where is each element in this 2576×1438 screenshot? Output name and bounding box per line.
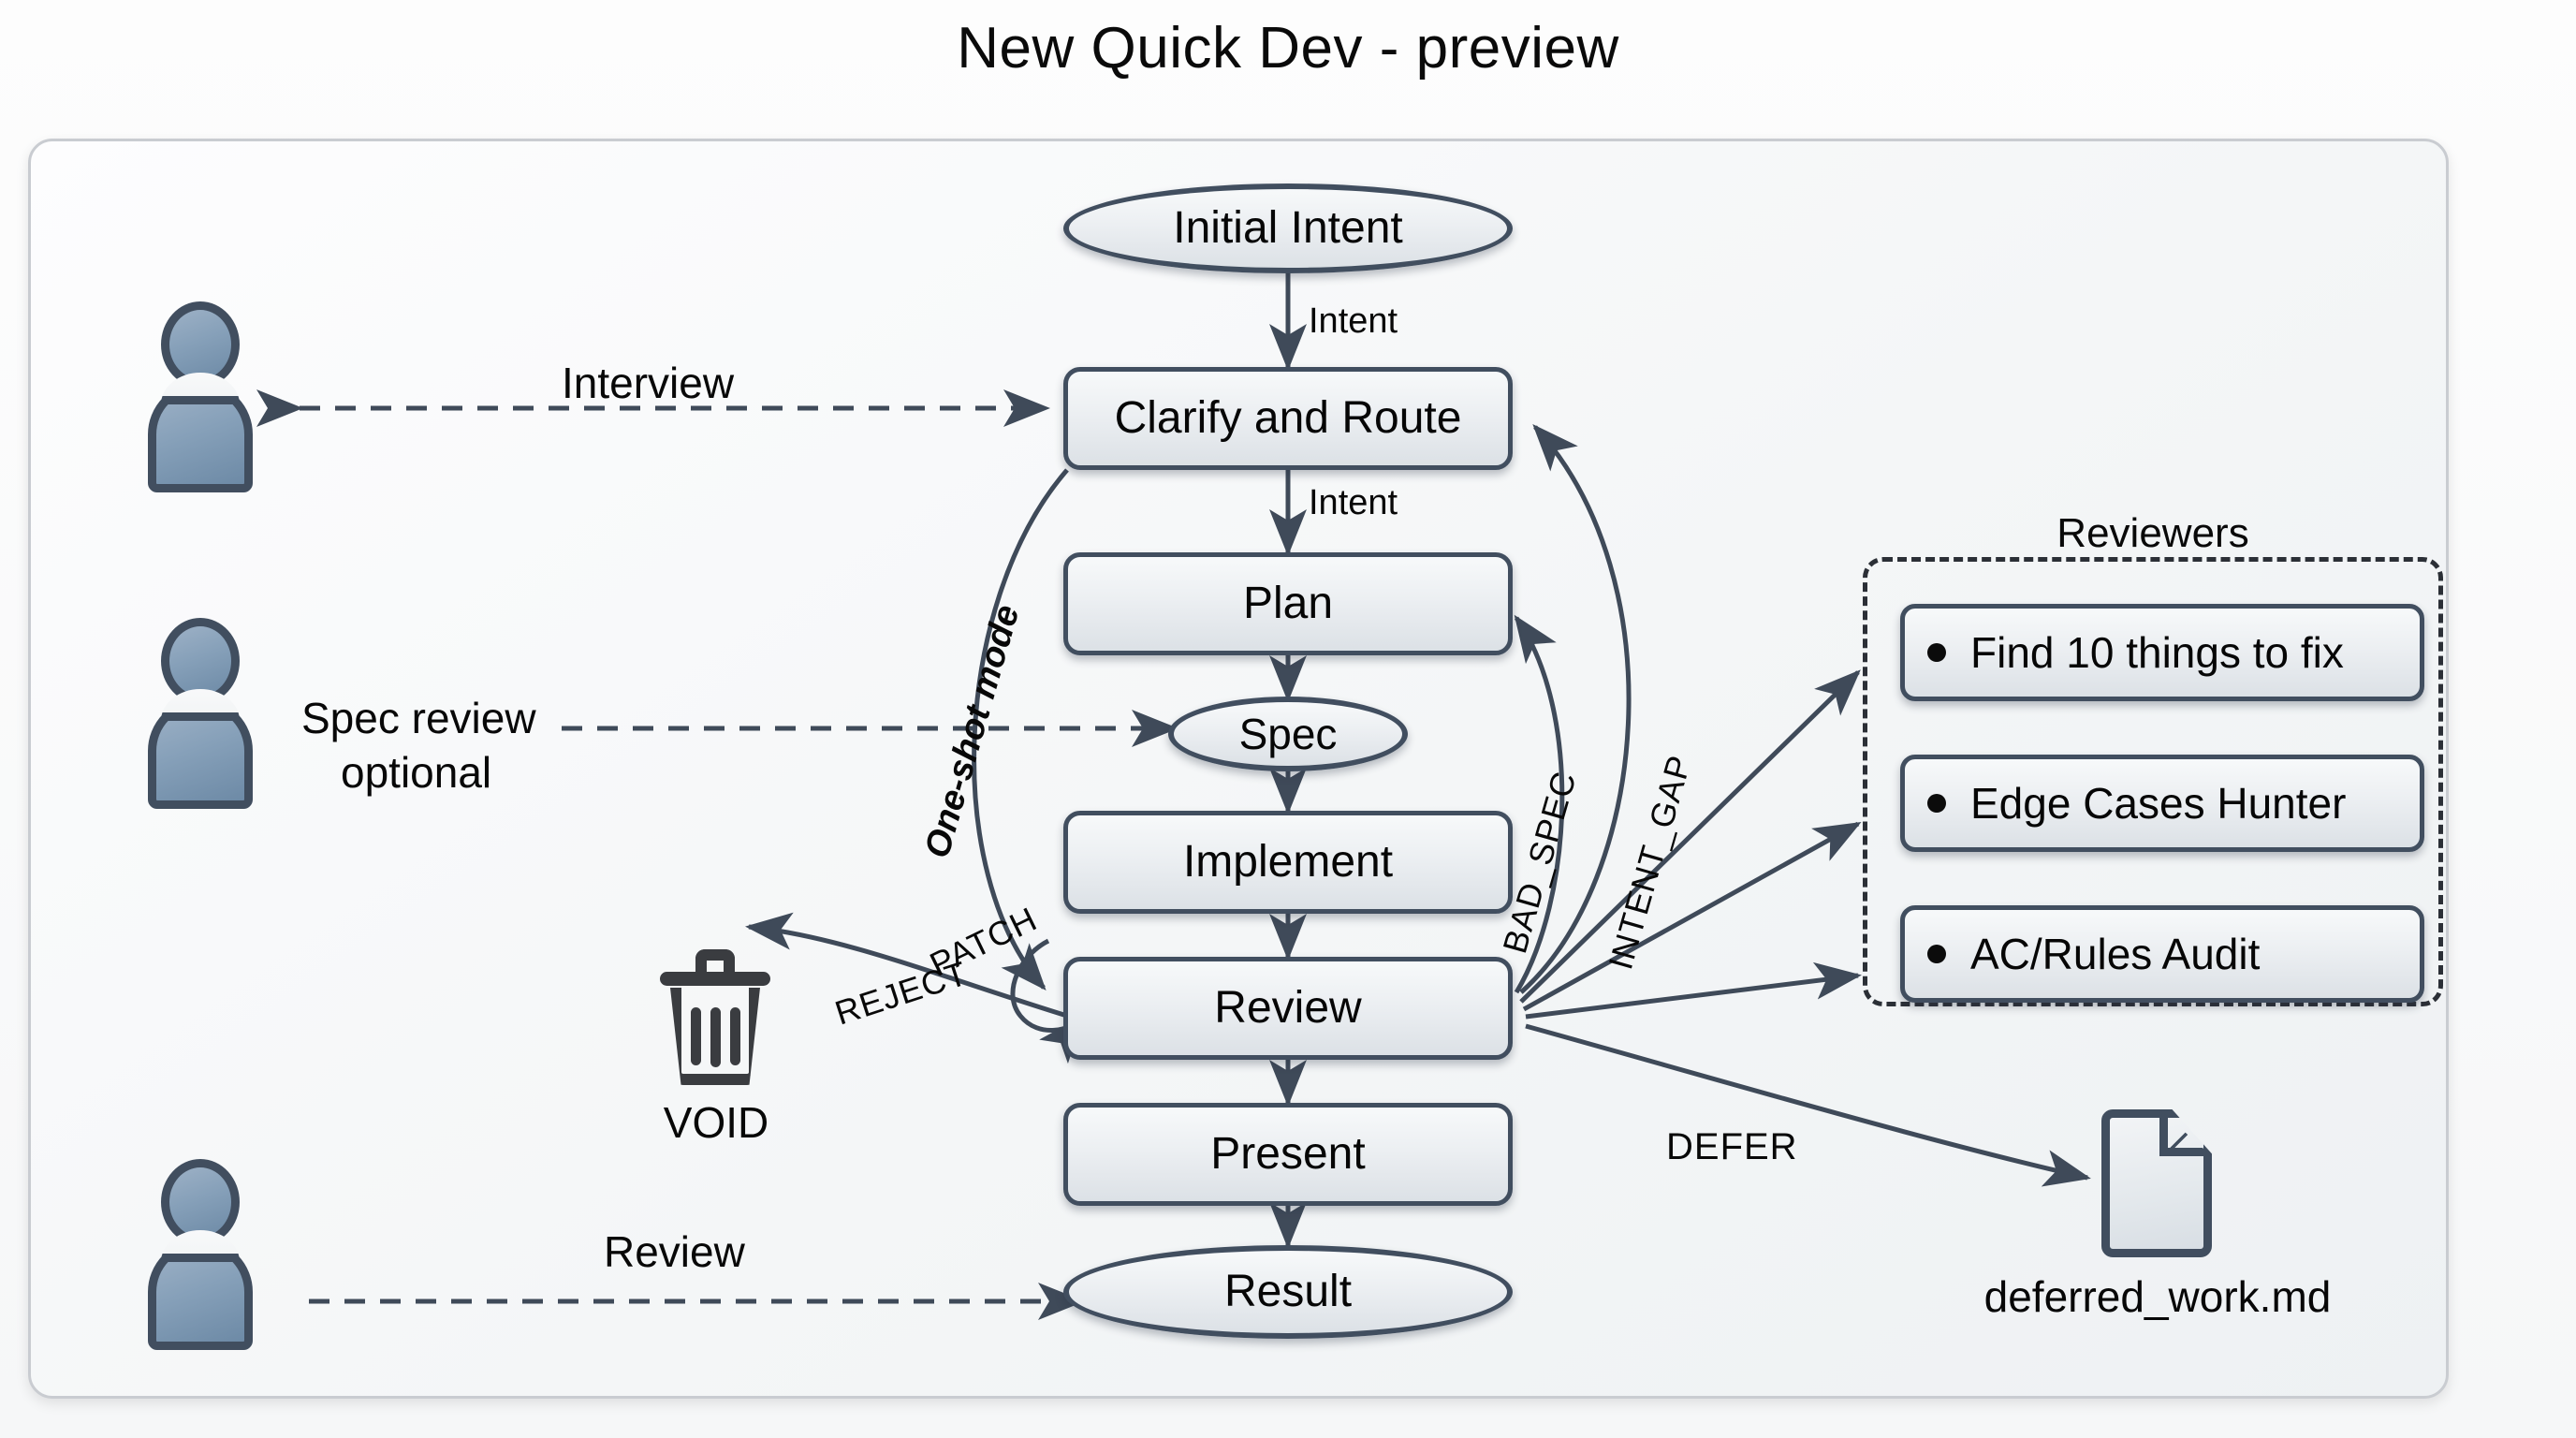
- trash-lid: [660, 972, 770, 986]
- edge-review-reviewer-1: [1521, 672, 1858, 1002]
- node-label: Implement: [1183, 840, 1393, 885]
- actor-interview[interactable]: [148, 301, 253, 494]
- node-label: Clarify and Route: [1115, 396, 1462, 441]
- actor-interview-label: Interview: [562, 358, 734, 408]
- node-review[interactable]: Review: [1063, 957, 1513, 1060]
- node-label: Present: [1210, 1132, 1365, 1177]
- edge-defer-document: [1526, 1026, 2087, 1178]
- actor-spec-reviewer[interactable]: [148, 618, 253, 811]
- document-page: [2101, 1109, 2212, 1257]
- bullet-icon: [1927, 945, 1946, 963]
- actor-neck-notch: [161, 689, 240, 721]
- actor-spec-label-line2: optional: [341, 747, 491, 798]
- bullet-icon: [1927, 794, 1946, 813]
- actor-neck-notch: [161, 373, 240, 404]
- node-label: Spec: [1239, 712, 1338, 756]
- trash-slot: [730, 1007, 740, 1065]
- reviewer-label: Edge Cases Hunter: [1970, 782, 2346, 825]
- actor-neck-notch: [161, 1230, 240, 1262]
- trash-slot: [691, 1007, 701, 1065]
- reviewer-label: AC/Rules Audit: [1970, 932, 2260, 976]
- void-label: VOID: [618, 1097, 814, 1148]
- node-label: Review: [1214, 986, 1361, 1031]
- edge-label-defer: DEFER: [1666, 1126, 1798, 1168]
- node-result[interactable]: Result: [1063, 1245, 1513, 1339]
- actor-result-label: Review: [604, 1226, 745, 1277]
- reviewers-group-title: Reviewers: [1863, 510, 2443, 557]
- reviewer-item-edge-cases-hunter[interactable]: Edge Cases Hunter: [1900, 755, 2424, 852]
- node-label: Initial Intent: [1173, 206, 1402, 251]
- edge-label-intent-2: Intent: [1309, 483, 1398, 523]
- actor-spec-label-line1: Spec review: [301, 693, 536, 743]
- trash-icon[interactable]: [660, 946, 770, 1086]
- node-present[interactable]: Present: [1063, 1103, 1513, 1206]
- bullet-icon: [1927, 643, 1946, 662]
- deferred-work-label: deferred_work.md: [1928, 1271, 2387, 1322]
- reviewer-label: Find 10 things to fix: [1970, 631, 2344, 674]
- node-plan[interactable]: Plan: [1063, 552, 1513, 655]
- node-implement[interactable]: Implement: [1063, 811, 1513, 914]
- actor-result-reviewer[interactable]: [148, 1159, 253, 1352]
- node-label: Plan: [1243, 581, 1333, 626]
- node-label: Result: [1224, 1269, 1352, 1314]
- node-clarify-and-route[interactable]: Clarify and Route: [1063, 367, 1513, 470]
- edge-label-intent-1: Intent: [1309, 301, 1398, 342]
- node-initial-intent[interactable]: Initial Intent: [1063, 183, 1513, 273]
- document-icon[interactable]: [2101, 1109, 2212, 1257]
- trash-slot: [710, 1007, 721, 1067]
- reviewer-item-find-10-things-to-fix[interactable]: Find 10 things to fix: [1900, 604, 2424, 701]
- reviewer-item-ac-rules-audit[interactable]: AC/Rules Audit: [1900, 905, 2424, 1003]
- node-spec[interactable]: Spec: [1168, 697, 1408, 771]
